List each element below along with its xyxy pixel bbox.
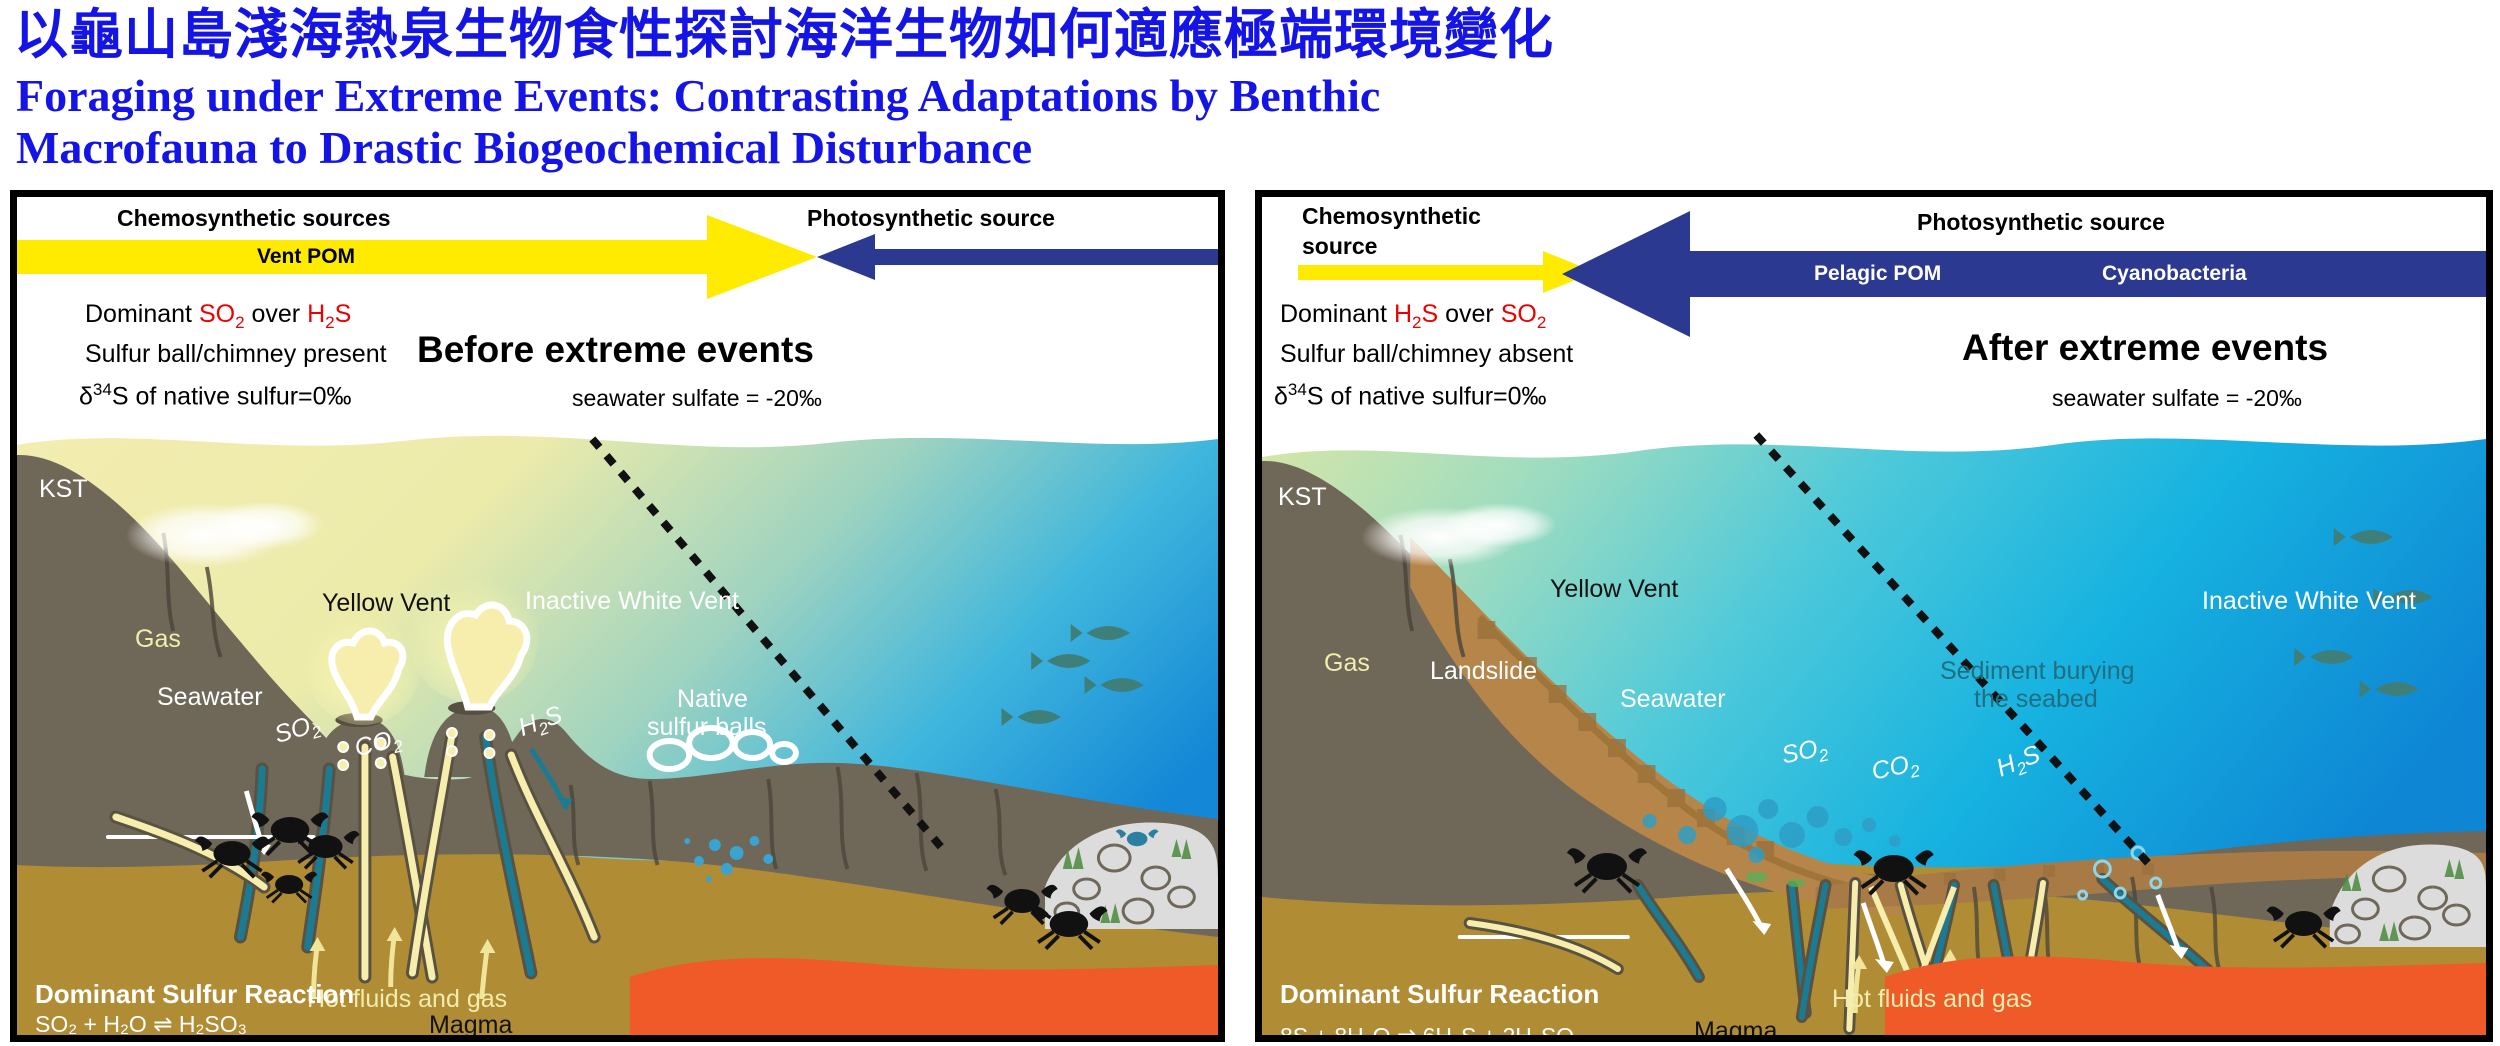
after-chemosynthetic-label-line1: Chemosynthetic	[1302, 203, 1481, 229]
pelagic-pom-label: Pelagic POM	[1814, 257, 1941, 291]
after-reaction-title: Dominant Sulfur Reaction	[1280, 979, 1599, 1010]
before-native-sulfur-balls-line2: sulfur balls	[647, 713, 767, 742]
before-reaction-title: Dominant Sulfur Reaction	[35, 979, 354, 1010]
before-sulfur-ball-note: Sulfur ball/chimney present	[85, 337, 387, 371]
before-dominant-first-sub: 2	[235, 313, 244, 332]
before-yellow-vent-label: Yellow Vent	[322, 589, 450, 618]
after-delta-symbol: δ	[1274, 382, 1288, 410]
title-english: Foraging under Extreme Events: Contrasti…	[16, 70, 2216, 174]
panel-before-extreme-events: Chemosynthetic sources Photosynthetic so…	[10, 190, 1225, 1042]
title-chinese: 以龜山島淺海熱泉生物食性探討海洋生物如何適應極端環境變化	[14, 4, 2490, 66]
after-sediment-label-line1: Sediment burying	[1940, 657, 2135, 686]
before-photosynthetic-label: Photosynthetic source	[807, 205, 1055, 231]
after-reaction-line1: 8S + 8H₂O ⇌ 6H₂S + 2H₂SO₄	[1280, 1021, 1583, 1042]
after-chemosynthetic-label-line2: source	[1302, 233, 1377, 259]
before-delta-note: δ34S of native sulfur=0‰	[79, 373, 352, 413]
vent-pom-arrow-head	[707, 215, 817, 299]
after-dominant-note: Dominant H2S over SO2	[1280, 297, 1546, 340]
before-reaction-line1: SO₂ + H₂O ⇌ H₂SO₃	[35, 1009, 247, 1039]
after-scene-graphic	[1262, 417, 2486, 1042]
photosynthetic-arrow-shaft	[872, 249, 1225, 265]
before-chemosynthetic-label: Chemosynthetic sources	[117, 205, 391, 231]
before-dominant-second: H	[307, 300, 325, 328]
before-dominant-mid: over	[245, 300, 308, 328]
before-dominant-note: Dominant SO2 over H2S	[85, 297, 351, 340]
after-photosynthetic-label: Photosynthetic source	[1917, 209, 2165, 235]
before-dominant-second-tail: S	[335, 300, 352, 328]
title-english-line1: Foraging under Extreme Events: Contrasti…	[16, 70, 2216, 122]
after-kst-label: KST	[1278, 483, 1327, 512]
before-seawater-sulfate: seawater sulfate = -20‰	[572, 385, 822, 412]
vent-pom-label: Vent POM	[257, 240, 355, 274]
after-scene: KST Gas Landslide Seawater Yellow Vent S…	[1262, 417, 2486, 1042]
before-seawater-label: Seawater	[157, 683, 263, 712]
after-delta-note: δ34S of native sulfur=0‰	[1274, 373, 1547, 413]
cyanobacteria-label: Cyanobacteria	[2102, 257, 2247, 291]
after-dominant-second-sub: 2	[1537, 313, 1546, 332]
after-dominant-mid: over	[1438, 300, 1501, 328]
before-dominant-second-sub: 2	[325, 313, 334, 332]
before-dominant-prefix: Dominant	[85, 300, 199, 328]
before-reaction-line2: 3H₂SO₃ ⇌ 2H₂SO₄ + S + H₂O	[35, 1037, 340, 1042]
before-inactive-white-vent-label: Inactive White Vent	[525, 587, 739, 616]
before-scene-graphic	[17, 417, 1218, 1042]
before-kst-label: KST	[39, 475, 88, 504]
after-sediment-label-line2: the seabed	[1974, 685, 2098, 714]
panel-after-extreme-events: Chemosynthetic source Photosynthetic sou…	[1255, 190, 2493, 1042]
after-vent-pom-arrow-shaft	[1298, 265, 1543, 280]
after-dominant-second: SO	[1501, 300, 1537, 328]
before-magma-label: Magma	[429, 1011, 512, 1040]
after-inactive-white-vent-label: Inactive White Vent	[2202, 587, 2416, 616]
figure-panels: Chemosynthetic sources Photosynthetic so…	[0, 190, 2500, 1042]
before-gas-label: Gas	[135, 625, 181, 654]
before-scene: KST Gas Seawater Yellow Vent Inactive Wh…	[17, 417, 1218, 1042]
after-gas-label: Gas	[1324, 649, 1370, 678]
after-yellow-vent-label: Yellow Vent	[1550, 575, 1678, 604]
after-dominant-first-tail: S	[1421, 300, 1438, 328]
after-photosynthetic-arrow-head	[1562, 211, 1690, 337]
after-scene-title: After extreme events	[1962, 327, 2328, 369]
before-delta-sup: 34	[93, 380, 112, 399]
after-dominant-prefix: Dominant	[1280, 300, 1394, 328]
after-sulfur-ball-note: Sulfur ball/chimney absent	[1280, 337, 1573, 371]
after-landslide-label: Landslide	[1430, 657, 1537, 686]
before-dominant-first: SO	[199, 300, 235, 328]
before-delta-symbol: δ	[79, 382, 93, 410]
after-delta-text: S of native sulfur=0‰	[1307, 382, 1547, 410]
before-scene-title: Before extreme events	[417, 329, 814, 371]
title-english-line2: Macrofauna to Drastic Biogeochemical Dis…	[16, 122, 2216, 174]
vent-pom-arrow-shaft	[17, 240, 707, 274]
after-delta-sup: 34	[1288, 380, 1307, 399]
before-delta-text: S of native sulfur=0‰	[112, 382, 352, 410]
after-seawater-sulfate: seawater sulfate = -20‰	[2052, 385, 2302, 412]
after-seawater-label: Seawater	[1620, 685, 1726, 714]
photosynthetic-arrow-head	[817, 234, 875, 280]
after-magma-label: Magma	[1694, 1017, 1777, 1042]
after-dominant-first: H	[1394, 300, 1412, 328]
after-photosynthetic-arrow-shaft	[1687, 251, 2493, 297]
poster-title-block: 以龜山島淺海熱泉生物食性探討海洋生物如何適應極端環境變化 Foraging un…	[0, 4, 2500, 174]
after-hot-fluids-label: Hot fluids and gas	[1832, 985, 2032, 1014]
before-native-sulfur-balls-line1: Native	[677, 685, 748, 714]
